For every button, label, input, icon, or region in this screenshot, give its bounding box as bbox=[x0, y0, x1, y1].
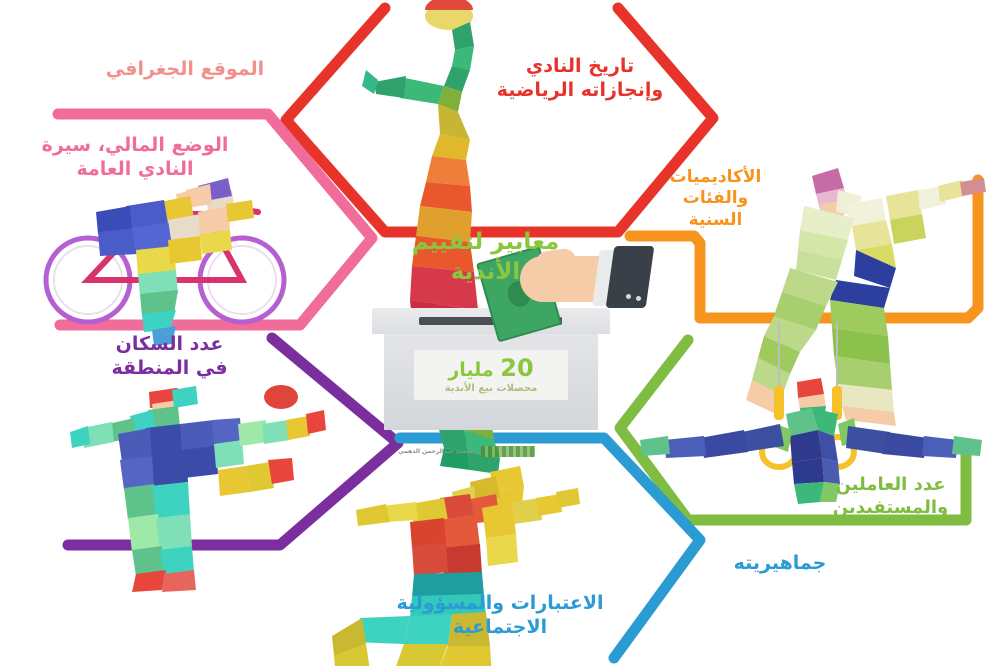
ballot-amount-text: 20 مليار bbox=[448, 359, 533, 381]
label-staff-beneficiaries[interactable]: عدد العاملين والمستفيدين bbox=[788, 474, 993, 519]
cuff-button bbox=[636, 296, 641, 301]
designer-credit-text: تصميم عبدالرحمن الدهمي bbox=[398, 448, 475, 455]
label-popularity[interactable]: جماهيريته bbox=[700, 552, 860, 576]
label-academies[interactable]: الأكاديميات والفئات السنية bbox=[628, 167, 803, 231]
soccer-player-icon bbox=[70, 385, 326, 592]
label-population[interactable]: عدد السكان في المنطقة bbox=[62, 333, 277, 381]
cuff-button bbox=[626, 294, 631, 299]
ballot-amount: 20 مليار bbox=[448, 356, 533, 380]
label-financial-status[interactable]: الوضع المالي، سيرة النادي العامة bbox=[10, 134, 260, 182]
infographic-canvas: 20 مليار محصلات بيع الأندية تصميم عبدالر… bbox=[0, 0, 1000, 666]
label-social-responsibility[interactable]: الاعتبارات والمسؤولية الاجتماعية bbox=[340, 592, 660, 640]
page-title: معايير لتقييم الأندية bbox=[378, 228, 593, 288]
label-geo-location[interactable]: الموقع الجغرافي bbox=[60, 58, 310, 82]
label-club-history[interactable]: تاريخ النادي وإنجازاته الرياضية bbox=[470, 55, 690, 103]
designer-logo-icon bbox=[481, 446, 535, 457]
ballot-box: 20 مليار محصلات بيع الأندية bbox=[372, 308, 610, 430]
ballot-caption: محصلات بيع الأندية bbox=[445, 383, 538, 394]
ballot-box-panel: 20 مليار محصلات بيع الأندية bbox=[414, 350, 568, 400]
cyclist-icon bbox=[46, 178, 284, 346]
ballot-box-body: 20 مليار محصلات بيع الأندية bbox=[384, 334, 598, 430]
designer-credit: تصميم عبدالرحمن الدهمي bbox=[398, 443, 573, 459]
